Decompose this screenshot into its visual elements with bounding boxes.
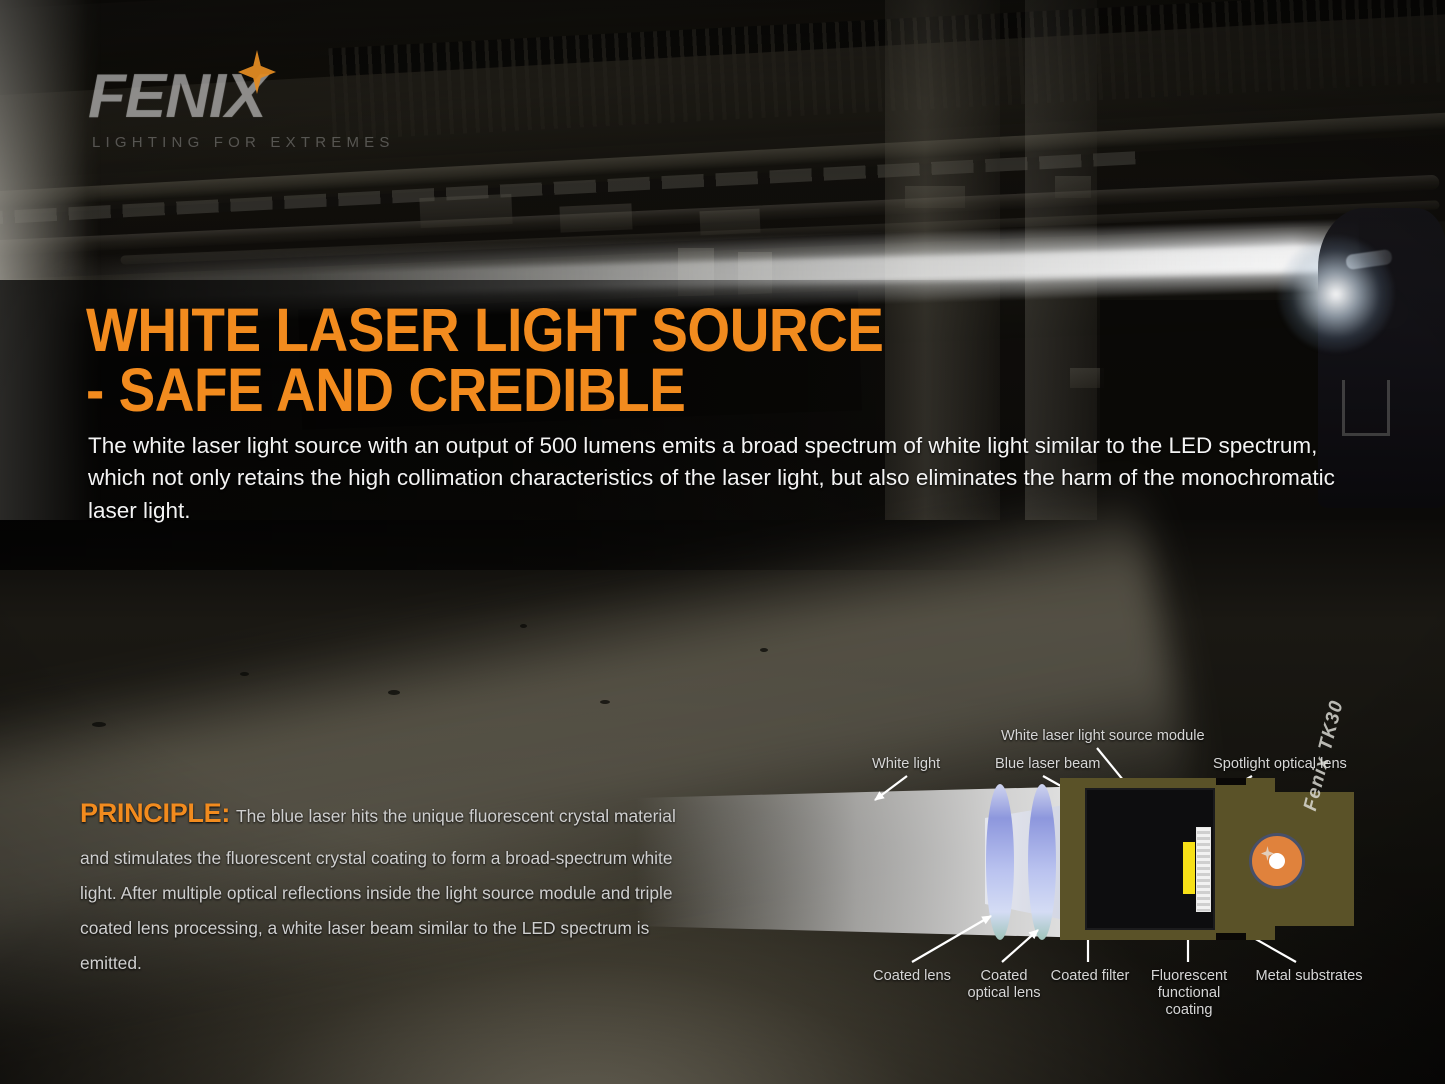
floor-debris	[240, 672, 249, 676]
headline-line-2: - SAFE AND CREDIBLE	[86, 360, 986, 420]
coated-optical-lens-shape	[1028, 784, 1056, 940]
slide-canvas: FENIX LIGHTING FOR EXTREMES WHITE LASER …	[0, 0, 1445, 1084]
wall-panel	[419, 194, 512, 228]
lede-paragraph: The white laser light source with an out…	[88, 430, 1378, 527]
fluorescent-functional-coating-shape	[1183, 842, 1195, 894]
flashlight-notch	[1216, 933, 1246, 940]
headline-line-1: WHITE LASER LIGHT SOURCE	[86, 296, 883, 364]
page-title: WHITE LASER LIGHT SOURCE - SAFE AND CRED…	[86, 300, 986, 421]
power-switch-indicator	[1269, 853, 1285, 869]
wall-panel	[559, 203, 632, 232]
principle-diagram: White light White laser light source mod…	[0, 690, 1445, 1084]
wall-panel	[699, 209, 760, 236]
flashlight-notch	[1216, 778, 1246, 785]
beam-hotspot	[1278, 236, 1394, 352]
floor-debris	[760, 648, 768, 652]
person-patch	[1342, 380, 1390, 436]
logo-tagline: LIGHTING FOR EXTREMES	[92, 134, 418, 151]
floor-debris	[520, 624, 527, 628]
fenix-logo: FENIX LIGHTING FOR EXTREMES	[88, 66, 418, 158]
metal-substrates-shape	[1196, 827, 1211, 912]
